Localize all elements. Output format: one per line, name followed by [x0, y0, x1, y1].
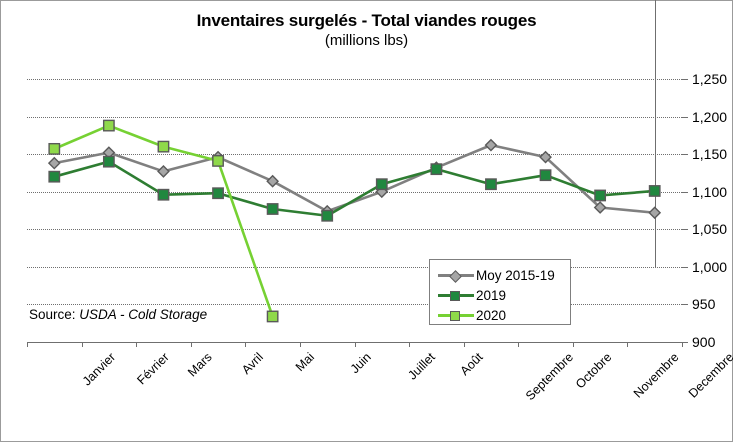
legend-swatch-2019 [438, 288, 474, 302]
y-axis-tick-label: 1,100 [692, 185, 727, 199]
gridline [27, 267, 682, 268]
x-axis-tick [518, 342, 519, 347]
gridline [27, 79, 682, 80]
legend-label-2020: 2020 [476, 308, 506, 323]
x-axis-tick [136, 342, 137, 347]
plot-background [27, 75, 682, 342]
x-axis-tick [191, 342, 192, 347]
x-axis-tick [245, 342, 246, 347]
legend-item-avg[interactable]: Moy 2015-19 [438, 265, 570, 285]
source-note: Source: USDA - Cold Storage [29, 307, 207, 322]
x-axis-tick [682, 342, 683, 347]
y-axis-tick [682, 79, 688, 80]
x-axis-tick [627, 342, 628, 347]
gridline [27, 304, 682, 305]
plot-area [27, 75, 682, 342]
y-axis-tick-label: 950 [692, 297, 715, 311]
gridline [27, 117, 682, 118]
y-axis-tick [682, 192, 688, 193]
y-axis-tick-label: 1,250 [692, 72, 727, 86]
y-axis-line [655, 0, 656, 267]
y-axis-tick [682, 154, 688, 155]
gridline [27, 192, 682, 193]
y-axis-tick-label: 1,150 [692, 147, 727, 161]
x-axis-tick [355, 342, 356, 347]
title-block: Inventaires surgelés - Total viandes rou… [0, 10, 733, 50]
page-title: Inventaires surgelés - Total viandes rou… [0, 10, 733, 31]
y-axis-tick [682, 117, 688, 118]
legend-item-2019[interactable]: 2019 [438, 285, 570, 305]
gridline [27, 154, 682, 155]
gridline [27, 229, 682, 230]
source-citation: USDA - Cold Storage [79, 307, 207, 322]
y-axis-tick [682, 267, 688, 268]
x-axis-tick [27, 342, 28, 347]
x-axis-tick [409, 342, 410, 347]
legend: Moy 2015-19 2019 2020 [429, 259, 571, 325]
y-axis-tick [682, 229, 688, 230]
x-axis-tick [464, 342, 465, 347]
legend-swatch-2020 [438, 308, 474, 322]
x-axis-tick [300, 342, 301, 347]
legend-swatch-avg [438, 268, 474, 282]
legend-label-avg: Moy 2015-19 [476, 268, 555, 283]
x-axis-tick [82, 342, 83, 347]
legend-label-2019: 2019 [476, 288, 506, 303]
y-axis-tick-label: 1,000 [692, 260, 727, 274]
y-axis-tick-label: 1,200 [692, 110, 727, 124]
y-axis-tick-label: 1,050 [692, 222, 727, 236]
legend-item-2020[interactable]: 2020 [438, 305, 570, 325]
x-axis-tick [573, 342, 574, 347]
y-axis-tick [682, 304, 688, 305]
y-axis-tick-label: 900 [692, 335, 715, 349]
chart-subtitle: (millions lbs) [0, 31, 733, 50]
source-prefix: Source: [29, 307, 79, 322]
